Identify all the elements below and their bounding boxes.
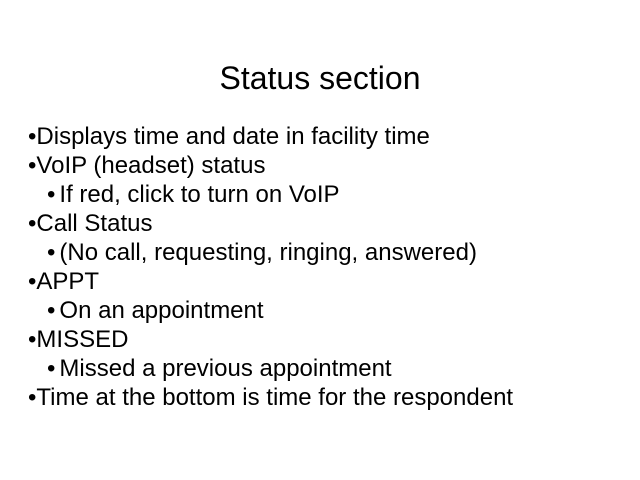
bullet-item-label: Time at the bottom is time for the respo… bbox=[36, 384, 513, 411]
bullet-item: •Displays time and date in facility time bbox=[28, 122, 612, 151]
bullet-item: •Call Status bbox=[28, 209, 612, 238]
page-title: Status section bbox=[0, 59, 640, 97]
bullet-point-icon: • bbox=[47, 180, 55, 209]
bullet-item-label: If red, click to turn on VoIP bbox=[59, 181, 339, 208]
bullet-item: •APPT bbox=[28, 267, 612, 296]
bullet-item: •VoIP (headset) status bbox=[28, 151, 612, 180]
bullet-item-label: (No call, requesting, ringing, answered) bbox=[59, 239, 477, 266]
bullet-item: •On an appointment bbox=[28, 296, 612, 325]
bullet-point-icon: • bbox=[47, 354, 55, 383]
bullet-item: •Missed a previous appointment bbox=[28, 354, 612, 383]
bullet-item-label: Displays time and date in facility time bbox=[36, 123, 430, 150]
bullet-item: •Time at the bottom is time for the resp… bbox=[28, 383, 612, 412]
bullet-point-icon: • bbox=[47, 238, 55, 267]
bullet-item-label: Call Status bbox=[36, 210, 152, 237]
bullet-item: •(No call, requesting, ringing, answered… bbox=[28, 238, 612, 267]
slide: Status section •Displays time and date i… bbox=[0, 0, 640, 480]
bullet-item-label: VoIP (headset) status bbox=[36, 152, 265, 179]
bullet-item-label: Missed a previous appointment bbox=[59, 355, 391, 382]
bullet-item-label: MISSED bbox=[36, 326, 128, 353]
bullet-point-icon: • bbox=[47, 296, 55, 325]
bullet-item-label: APPT bbox=[36, 268, 99, 295]
bullet-item-label: On an appointment bbox=[59, 297, 263, 324]
bullet-item: •MISSED bbox=[28, 325, 612, 354]
bullet-item: •If red, click to turn on VoIP bbox=[28, 180, 612, 209]
bullet-list: •Displays time and date in facility time… bbox=[28, 122, 612, 412]
